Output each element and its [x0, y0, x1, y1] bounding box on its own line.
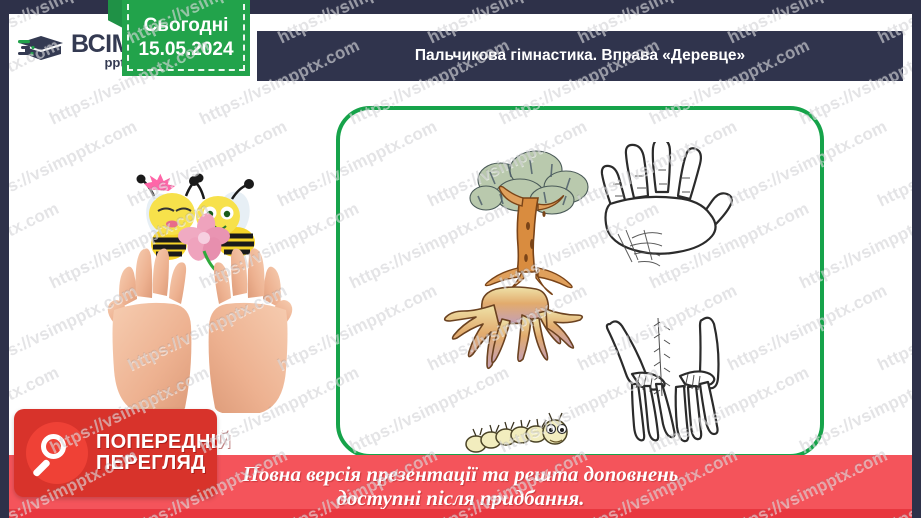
banner-line-1: Повна версія презентації та решта доповн… [243, 463, 679, 487]
children-hands-illustration [100, 248, 300, 413]
preview-line-1: ПОПЕРЕДНІЙ [96, 432, 231, 453]
hands-down-sketch [602, 312, 757, 457]
magnifier-icon [26, 422, 88, 484]
presentation-slide: ВСІМ pptx Сьогодні 15.05.2024 Пальчикова… [0, 0, 921, 518]
preview-badge-text: ПОПЕРЕДНІЙ ПЕРЕГЛЯД [96, 432, 231, 474]
today-label: Сьогодні [144, 14, 229, 38]
preview-line-2: ПЕРЕГЛЯД [96, 453, 231, 474]
open-hand-sketch [582, 142, 757, 292]
today-date-badge: Сьогодні 15.05.2024 [122, 0, 250, 76]
caterpillar-illustration [460, 412, 585, 457]
today-value: 15.05.2024 [138, 38, 233, 62]
preview-badge: ПОПЕРЕДНІЙ ПЕРЕГЛЯД [14, 409, 217, 497]
slide-title-bar: Пальчикова гімнастика. Вправа «Деревце» [257, 31, 903, 81]
page-title: Пальчикова гімнастика. Вправа «Деревце» [415, 47, 745, 65]
graduation-cap-icon [17, 30, 69, 70]
left-edge-strip [0, 0, 9, 518]
banner-line-2: доступні після придбання. [336, 487, 584, 511]
right-edge-strip [912, 0, 921, 518]
roots-illustration [436, 285, 611, 420]
